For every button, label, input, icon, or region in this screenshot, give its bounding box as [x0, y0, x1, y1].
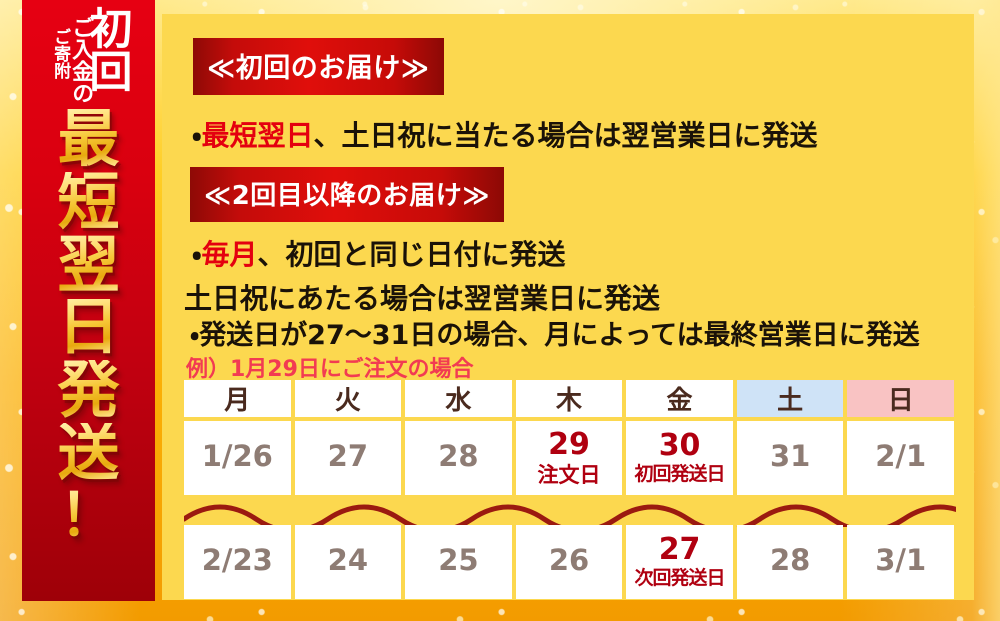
day-number: 2/23	[202, 546, 273, 575]
banner-exclamation: ！	[59, 487, 117, 544]
main-info-card: ≪初回のお届け≫ ・最短翌日、土日祝に当たる場合は翌営業日に発送 ≪2回目以降の…	[162, 14, 974, 600]
first-delivery-line-1: ・最短翌日、土日祝に当たる場合は翌営業日に発送	[192, 114, 818, 154]
calendar-row-january: 1/26 27 28 29 注文日 30 初回発送日	[184, 421, 954, 495]
day-number: 2/1	[875, 442, 926, 471]
banner-header-group: ご寄附 ご入金の 初回	[22, 0, 155, 104]
banner-char-2: 翌	[57, 235, 119, 296]
highlight-1: 最短翌日	[202, 119, 314, 152]
calendar-row-february: 2/23 24 25 26 27 次回発送日	[184, 525, 954, 599]
left-red-banner: ご寄附 ご入金の 初回 最 短 翌 日 発 送 ！	[22, 0, 155, 601]
day-label: 次回発送日	[635, 569, 725, 589]
calendar-cell: 28	[737, 525, 844, 599]
promo-banner: ご寄附 ご入金の 初回 最 短 翌 日 発 送 ！ ≪初回のお届け≫ ・最短翌日…	[0, 0, 1000, 621]
section-badge-recurring-delivery: ≪2回目以降のお届け≫	[190, 167, 504, 222]
banner-header-title: 初回	[85, 6, 127, 92]
day-number: 24	[328, 546, 368, 575]
bullet-4: ・	[190, 320, 199, 351]
banner-char-3: 日	[57, 297, 119, 358]
wavy-divider-icon	[184, 501, 956, 527]
banner-char-0: 最	[57, 109, 119, 170]
day-number: 27	[659, 535, 701, 565]
day-number: 29	[548, 430, 590, 460]
calendar-cell-next-shipment: 27 次回発送日	[626, 525, 733, 599]
example-note: 例）1月29日にご注文の場合	[186, 351, 473, 383]
calendar-cell: 28	[405, 421, 512, 495]
weekday-header-fri: 金	[626, 380, 733, 417]
day-number: 26	[549, 546, 589, 575]
calendar-first-month: 月 火 水 木 金 土 日 1/26 27 28	[184, 380, 954, 495]
banner-header-col2: ご寄附	[51, 6, 68, 79]
weekday-header-thu: 木	[516, 380, 623, 417]
weekday-header-mon: 月	[184, 380, 291, 417]
weekday-header-sat: 土	[737, 380, 844, 417]
bullet-2: ・	[192, 238, 202, 271]
rest-2: 、初回と同じ日付に発送	[258, 238, 566, 271]
calendar-cell-order-date: 29 注文日	[516, 421, 623, 495]
recurring-line-1: ・毎月、初回と同じ日付に発送	[192, 233, 566, 273]
calendar-cell-first-shipment: 30 初回発送日	[626, 421, 733, 495]
day-number: 1/26	[202, 442, 273, 471]
day-label: 初回発送日	[635, 465, 725, 485]
day-number: 25	[438, 546, 478, 575]
day-number: 28	[438, 442, 478, 471]
calendar-cell: 1/26	[184, 421, 291, 495]
weekday-header-sun: 日	[847, 380, 954, 417]
recurring-line-3: ・発送日が27〜31日の場合、月によっては最終営業日に発送	[190, 313, 920, 352]
day-number: 31	[770, 442, 810, 471]
highlight-2: 毎月	[202, 238, 258, 271]
day-number: 28	[770, 546, 810, 575]
calendar-cell: 2/1	[847, 421, 954, 495]
banner-char-1: 短	[57, 172, 119, 233]
section-badge-first-delivery: ≪初回のお届け≫	[193, 38, 444, 95]
calendar-cell: 3/1	[847, 525, 954, 599]
banner-main-text: 最 短 翌 日 発 送 ！	[22, 104, 155, 544]
weekday-header-wed: 水	[405, 380, 512, 417]
recurring-line-2: 土日祝にあたる場合は翌営業日に発送	[184, 277, 660, 317]
rest-4: 発送日が27〜31日の場合、月によっては最終営業日に発送	[199, 320, 919, 351]
rest-1: 、土日祝に当たる場合は翌営業日に発送	[314, 119, 818, 152]
bullet-1: ・	[192, 119, 202, 152]
day-label: 注文日	[537, 464, 600, 486]
calendar-second-month: 2/23 24 25 26 27 次回発送日	[184, 525, 954, 599]
day-number: 30	[659, 431, 701, 461]
calendar-cell: 24	[295, 525, 402, 599]
calendar-header-row: 月 火 水 木 金 土 日	[184, 380, 954, 417]
day-number: 3/1	[875, 546, 926, 575]
calendar-cell: 2/23	[184, 525, 291, 599]
day-number: 27	[328, 442, 368, 471]
calendar-cell: 25	[405, 525, 512, 599]
banner-char-4: 発	[57, 360, 119, 421]
banner-char-5: 送	[57, 423, 119, 484]
calendar-cell: 31	[737, 421, 844, 495]
calendar-cell: 26	[516, 525, 623, 599]
weekday-header-tue: 火	[295, 380, 402, 417]
calendar-cell: 27	[295, 421, 402, 495]
